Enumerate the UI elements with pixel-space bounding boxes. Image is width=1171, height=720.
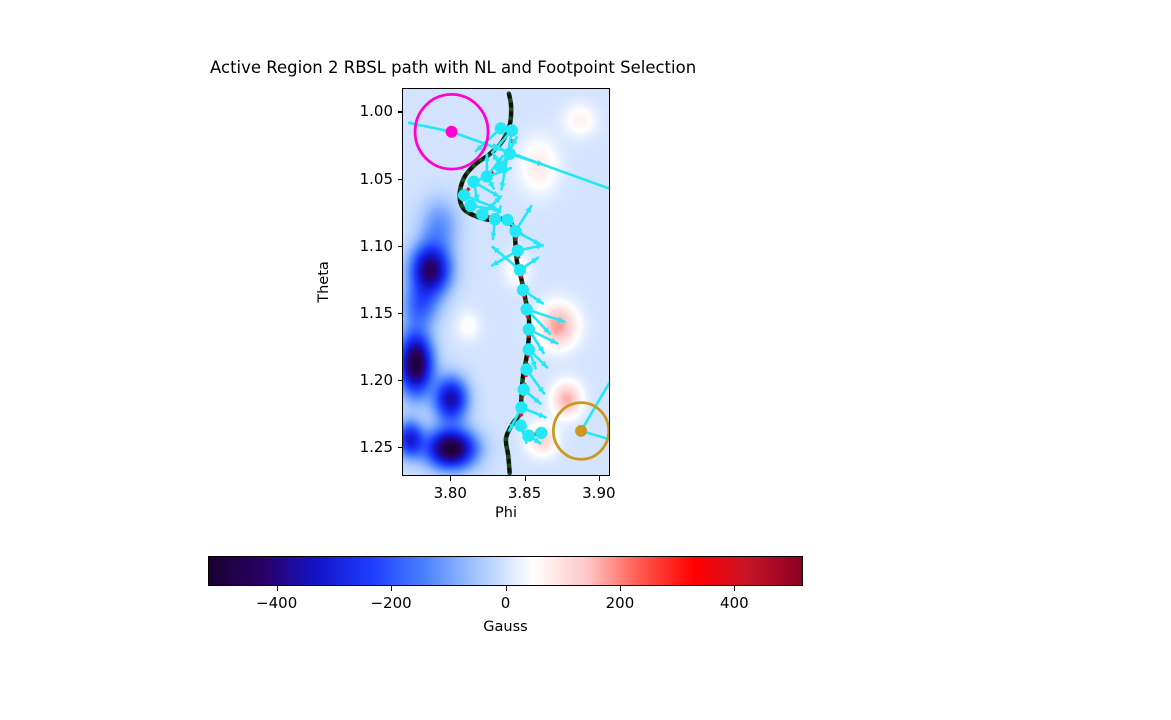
tick-mark xyxy=(734,586,735,591)
tick-mark xyxy=(398,111,403,112)
tick-mark xyxy=(398,246,403,247)
rbsl-marker-18[interactable] xyxy=(520,363,532,375)
footpoint-dot-1[interactable] xyxy=(446,126,458,138)
tick-label: 3.80 xyxy=(434,484,467,502)
tick-label: 1.20 xyxy=(360,371,393,389)
tick-label: 200 xyxy=(606,594,635,612)
rbsl-marker-23[interactable] xyxy=(535,427,547,439)
tick-label: 1.15 xyxy=(360,304,393,322)
colorbar-gradient xyxy=(208,556,803,586)
tick-mark xyxy=(277,586,278,591)
rbsl-marker-7[interactable] xyxy=(465,200,477,212)
rbsl-marker-10[interactable] xyxy=(501,214,513,226)
tick-label: 1.05 xyxy=(360,170,393,188)
tick-mark xyxy=(450,476,451,481)
rbsl-marker-17[interactable] xyxy=(523,343,535,355)
tick-mark xyxy=(599,476,600,481)
rbsl-marker-9[interactable] xyxy=(489,213,501,225)
tick-mark xyxy=(398,380,403,381)
rbsl-marker-21[interactable] xyxy=(515,419,527,431)
rbsl-marker-14[interactable] xyxy=(517,284,529,296)
x-axis-label: Phi xyxy=(402,505,610,521)
rbsl-marker-1[interactable] xyxy=(506,124,518,136)
rbsl-marker-19[interactable] xyxy=(518,383,530,395)
rbsl-arrows xyxy=(464,125,564,443)
tick-mark xyxy=(525,476,526,481)
rbsl-marker-3[interactable] xyxy=(495,161,507,173)
tick-label: −200 xyxy=(370,594,411,612)
tick-label: 3.85 xyxy=(508,484,541,502)
rbsl-marker-4[interactable] xyxy=(481,170,493,182)
rbsl-marker-11[interactable] xyxy=(509,225,521,237)
rbsl-marker-12[interactable] xyxy=(512,244,524,256)
tick-label: 1.10 xyxy=(360,237,393,255)
tick-mark xyxy=(398,313,403,314)
tick-label: 1.00 xyxy=(360,102,393,120)
tick-label: −400 xyxy=(256,594,297,612)
tick-mark xyxy=(506,586,507,591)
rbsl-marker-8[interactable] xyxy=(476,208,488,220)
colorbar-label: Gauss xyxy=(208,619,803,635)
figure-canvas: Active Region 2 RBSL path with NL and Fo… xyxy=(0,0,1171,720)
rbsl-marker-13[interactable] xyxy=(514,264,526,276)
tick-mark xyxy=(398,179,403,180)
tick-label: 1.25 xyxy=(360,438,393,456)
rbsl-overlay xyxy=(403,89,609,475)
tick-mark xyxy=(620,586,621,591)
tick-mark xyxy=(391,586,392,591)
rbsl-marker-0[interactable] xyxy=(495,122,507,134)
y-axis-label: Theta xyxy=(316,261,332,303)
footpoint-dot-2[interactable] xyxy=(575,425,587,437)
rbsl-marker-6[interactable] xyxy=(458,189,470,201)
colorbar-container[interactable]: −400−2000200400 xyxy=(208,556,803,586)
page-title: Active Region 2 RBSL path with NL and Fo… xyxy=(210,58,810,77)
rbsl-marker-15[interactable] xyxy=(520,303,532,315)
tick-label: 3.90 xyxy=(582,484,615,502)
rbsl-marker-22[interactable] xyxy=(523,429,535,441)
tick-label: 0 xyxy=(501,594,511,612)
rbsl-marker-20[interactable] xyxy=(515,401,527,413)
tick-mark xyxy=(398,447,403,448)
rbsl-marker-16[interactable] xyxy=(523,323,535,335)
tick-label: 400 xyxy=(720,594,749,612)
rbsl-arrowhead-22 xyxy=(557,317,564,323)
rbsl-marker-5[interactable] xyxy=(467,176,479,188)
rbsl-marker-2[interactable] xyxy=(504,148,516,160)
magnetogram-axes[interactable] xyxy=(402,88,610,476)
